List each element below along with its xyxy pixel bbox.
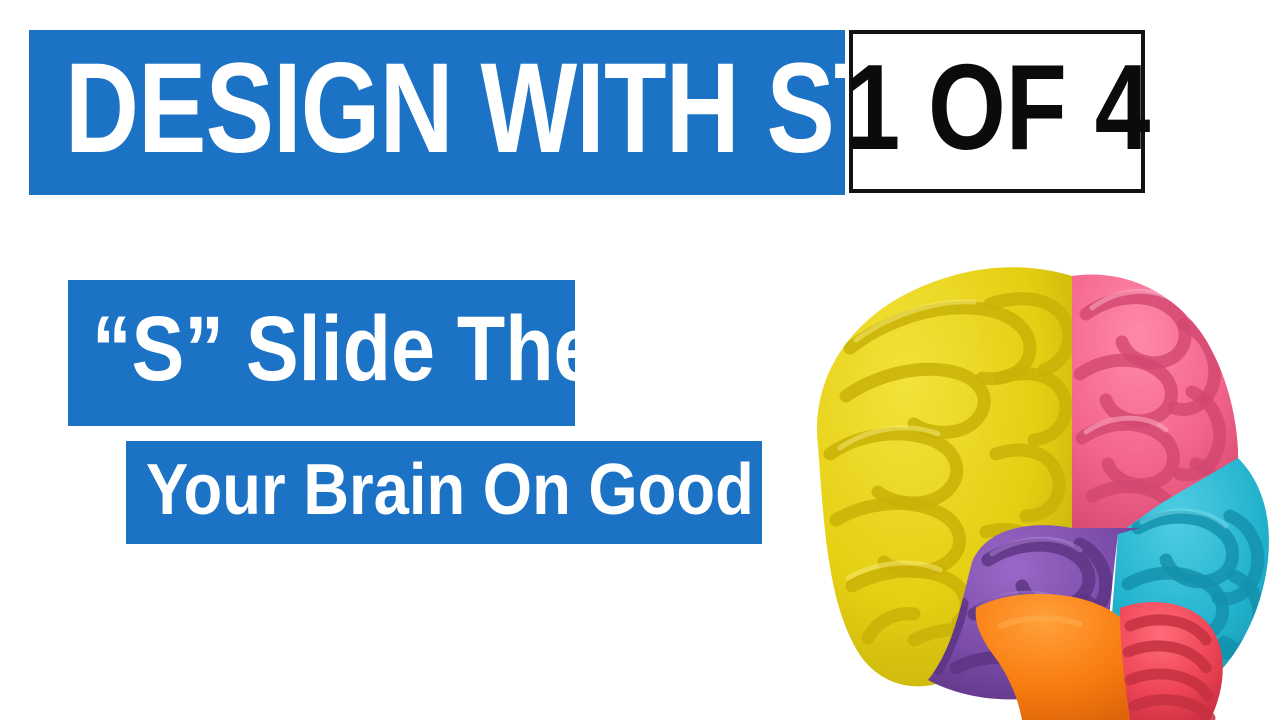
title-bar: DESIGN WITH STYLE <box>29 30 845 195</box>
clay-brain-illustration <box>700 228 1280 720</box>
subtitle-primary-label: “S” Slide Theory <box>92 303 721 395</box>
slide-counter-box: 1 OF 4 <box>849 30 1145 193</box>
subtitle-bar-secondary: Your Brain On Good Design <box>126 441 762 544</box>
slide-canvas: DESIGN WITH STYLE 1 OF 4 “S” Slide Theor… <box>0 0 1280 720</box>
subtitle-bar-primary: “S” Slide Theory <box>68 280 575 426</box>
clay-brain-svg <box>700 228 1280 720</box>
slide-counter-label: 1 OF 4 <box>844 46 1150 168</box>
